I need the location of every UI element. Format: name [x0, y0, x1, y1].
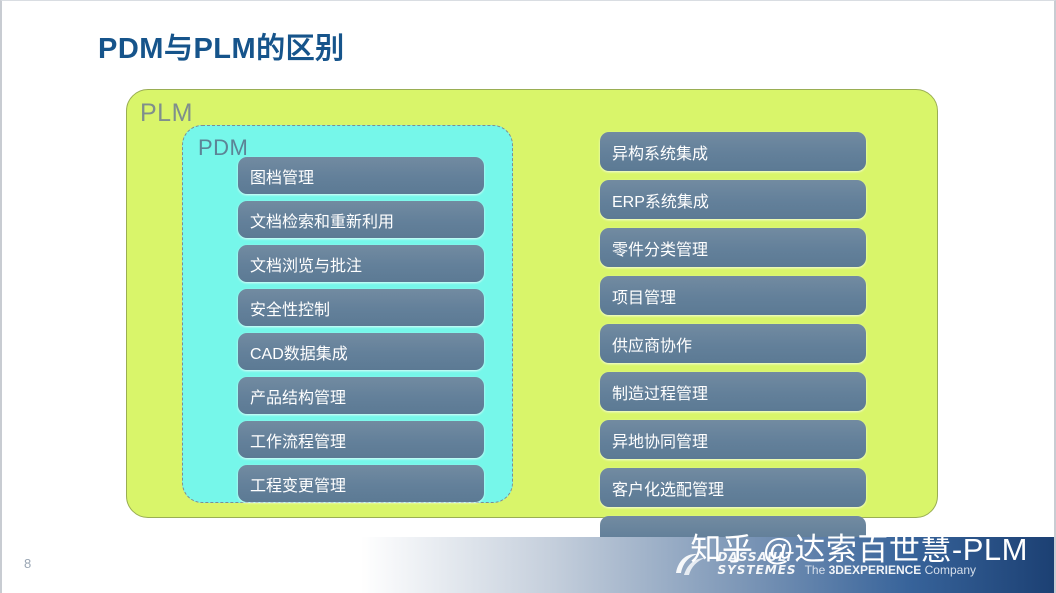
- list-item[interactable]: ERP系统集成: [600, 180, 866, 219]
- plm-region-label: PLM: [140, 99, 193, 128]
- list-item[interactable]: 异构系统集成: [600, 132, 866, 171]
- list-item[interactable]: 工作流程管理: [238, 421, 484, 458]
- list-item[interactable]: 制造过程管理: [600, 372, 866, 411]
- list-item[interactable]: CAD数据集成: [238, 333, 484, 370]
- list-item[interactable]: 图档管理: [238, 157, 484, 194]
- list-item[interactable]: 供应商协作: [600, 324, 866, 363]
- list-item[interactable]: 文档浏览与批注: [238, 245, 484, 282]
- slide-canvas: PDM与PLM的区别 PLM PDM 图档管理 文档检索和重新利用 文档浏览与批…: [0, 0, 1056, 593]
- plm-capability-list: 异构系统集成 ERP系统集成 零件分类管理 项目管理 供应商协作 制造过程管理 …: [600, 132, 866, 555]
- list-item[interactable]: 产品结构管理: [238, 377, 484, 414]
- list-item[interactable]: 异地协同管理: [600, 420, 866, 459]
- page-title: PDM与PLM的区别: [98, 25, 345, 67]
- page-number: 8: [24, 556, 31, 571]
- zhihu-watermark: 知乎 @达索百世慧-PLM: [690, 524, 1028, 569]
- list-item[interactable]: 工程变更管理: [238, 465, 484, 502]
- pdm-capability-list: 图档管理 文档检索和重新利用 文档浏览与批注 安全性控制 CAD数据集成 产品结…: [238, 157, 484, 502]
- list-item[interactable]: 文档检索和重新利用: [238, 201, 484, 238]
- list-item[interactable]: 零件分类管理: [600, 228, 866, 267]
- list-item[interactable]: 客户化选配管理: [600, 468, 866, 507]
- list-item[interactable]: 项目管理: [600, 276, 866, 315]
- list-item[interactable]: 安全性控制: [238, 289, 484, 326]
